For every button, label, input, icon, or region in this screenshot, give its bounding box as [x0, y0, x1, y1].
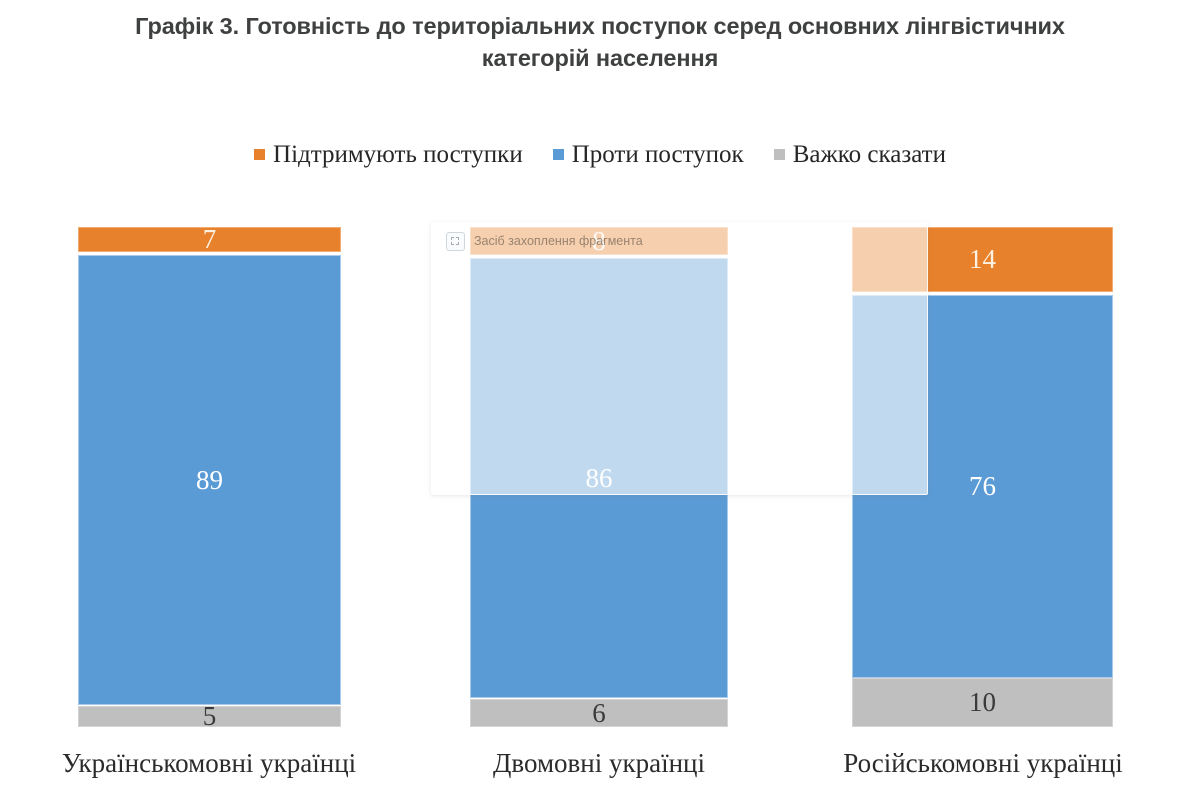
- bar-segment-support[interactable]: 7: [78, 227, 341, 252]
- bar-segment-hard-to-say[interactable]: 10: [852, 678, 1113, 727]
- bar-value-support: 7: [203, 226, 217, 253]
- bar-value-support: 14: [969, 246, 996, 273]
- bar-segment-against[interactable]: 89: [78, 255, 341, 705]
- bar-value-hard-to-say: 5: [203, 703, 217, 730]
- snipping-tool-window[interactable]: Засіб захоплення фрагмента: [431, 222, 928, 495]
- category-label-bilingual: Двомовні українці: [420, 748, 778, 779]
- category-label-russian-speaking: Російськомовні українці: [792, 748, 1174, 779]
- snipping-tool-title: Засіб захоплення фрагмента: [474, 235, 643, 248]
- chart-root: Графік 3. Готовність до територіальних п…: [0, 0, 1200, 800]
- snipping-tool-icon: [446, 232, 465, 251]
- bar-segment-hard-to-say[interactable]: 6: [470, 699, 728, 727]
- bar-group-ukrainian-speaking: 7 89 5: [78, 227, 341, 727]
- bar-value-against: 76: [969, 473, 996, 500]
- category-label-ukrainian-speaking: Українськомовні українці: [18, 748, 400, 779]
- snipping-tool-titlebar[interactable]: Засіб захоплення фрагмента: [432, 223, 927, 259]
- bar-value-hard-to-say: 10: [969, 689, 996, 716]
- bar-value-hard-to-say: 6: [592, 700, 606, 727]
- bar-segment-hard-to-say[interactable]: 5: [78, 706, 341, 727]
- bar-value-against: 89: [196, 467, 223, 494]
